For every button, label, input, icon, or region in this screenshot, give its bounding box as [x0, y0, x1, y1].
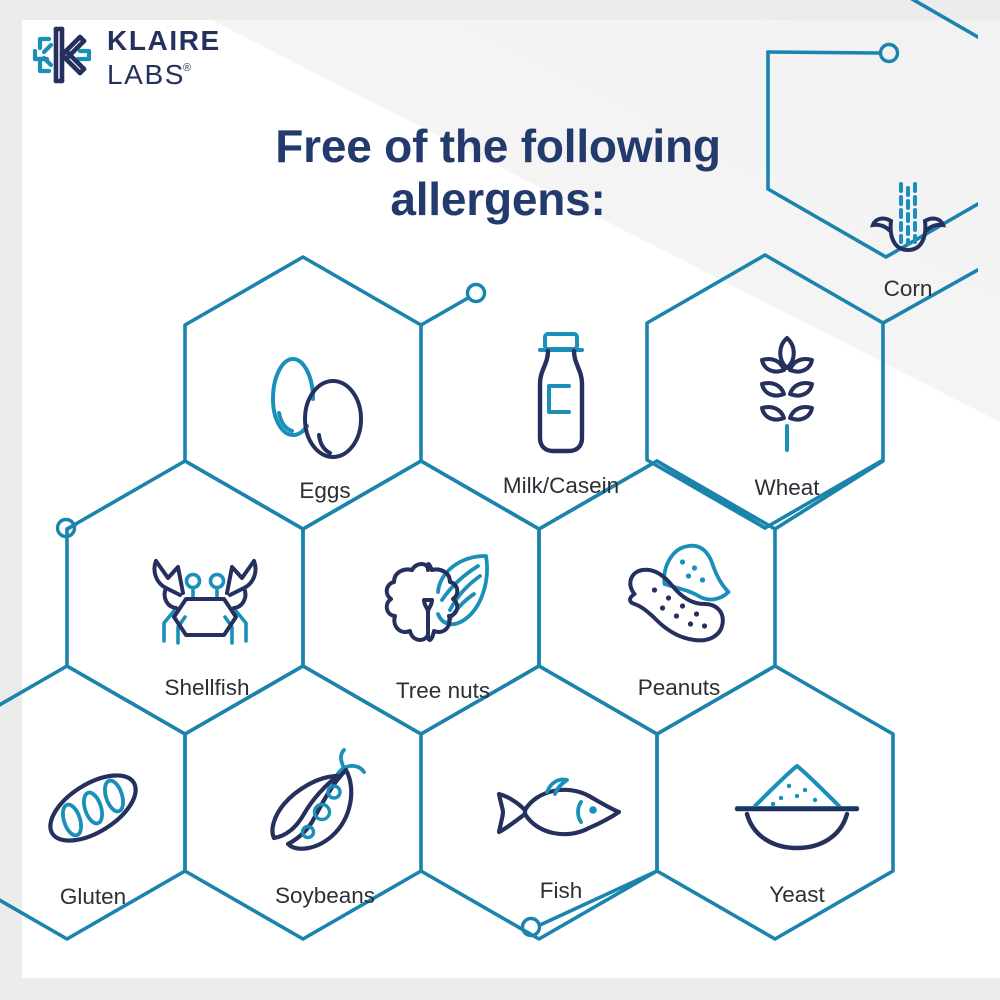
crab-icon — [142, 545, 272, 660]
allergen-cell-fish[interactable]: Fish — [491, 770, 631, 920]
connector-corn-terminal — [881, 45, 898, 62]
allergen-cell-treenuts[interactable]: Tree nuts — [373, 550, 513, 710]
allergen-label-milk: Milk/Casein — [503, 473, 619, 499]
milk-bottle-icon — [519, 330, 603, 465]
allergen-cell-shellfish[interactable]: Shellfish — [137, 545, 277, 705]
allergen-label-fish: Fish — [540, 878, 583, 904]
connector-eggs-terminal — [468, 285, 485, 302]
page-title-line1: Free of the following — [148, 120, 848, 173]
brand-name-line2: LABS — [107, 59, 185, 90]
allergen-label-eggs: Eggs — [299, 478, 350, 504]
allergen-cell-gluten[interactable]: Gluten — [23, 758, 163, 918]
allergen-label-peanuts: Peanuts — [638, 675, 721, 701]
klaire-k-snowflake-mark — [35, 29, 89, 81]
allergen-cell-peanuts[interactable]: Peanuts — [609, 542, 749, 707]
allergen-cell-milk[interactable]: Milk/Casein — [491, 330, 631, 505]
brand-name-line1: KLAIRE — [107, 25, 221, 56]
connector-eggs-stub — [421, 298, 468, 325]
page-title-line2: allergens: — [148, 173, 848, 226]
gluten-grain-icon — [38, 758, 148, 863]
peanut-icon — [617, 542, 742, 657]
allergen-label-gluten: Gluten — [60, 884, 126, 910]
brand-logo: KLAIRE LABS ® — [13, 15, 243, 95]
allergen-label-yeast: Yeast — [769, 882, 824, 908]
walnut-almond-icon — [378, 550, 508, 660]
allergen-cell-eggs[interactable]: Eggs — [255, 355, 395, 505]
page-title: Free of the following allergens: — [148, 120, 848, 226]
registered-mark: ® — [183, 62, 191, 74]
allergen-label-corn: Corn — [884, 276, 933, 302]
eggs-icon — [265, 355, 385, 470]
wheat-stalk-icon — [748, 332, 826, 467]
allergen-label-soybeans: Soybeans — [275, 883, 375, 909]
yeast-bowl-icon — [727, 762, 867, 857]
soybean-pod-icon — [260, 748, 390, 873]
allergen-label-treenuts: Tree nuts — [396, 678, 490, 704]
corn-cob-icon — [863, 180, 953, 265]
connector-corn-stub — [768, 52, 880, 53]
fish-icon — [491, 770, 631, 855]
allergen-cell-corn[interactable]: Corn — [838, 180, 978, 310]
allergen-label-wheat: Wheat — [754, 475, 819, 501]
allergen-label-shellfish: Shellfish — [164, 675, 249, 701]
infographic-canvas: KLAIRE LABS ® Free of the following alle… — [0, 0, 1000, 1000]
allergen-cell-soybeans[interactable]: Soybeans — [255, 748, 395, 918]
allergen-cell-wheat[interactable]: Wheat — [717, 332, 857, 507]
allergen-cell-yeast[interactable]: Yeast — [727, 762, 867, 922]
